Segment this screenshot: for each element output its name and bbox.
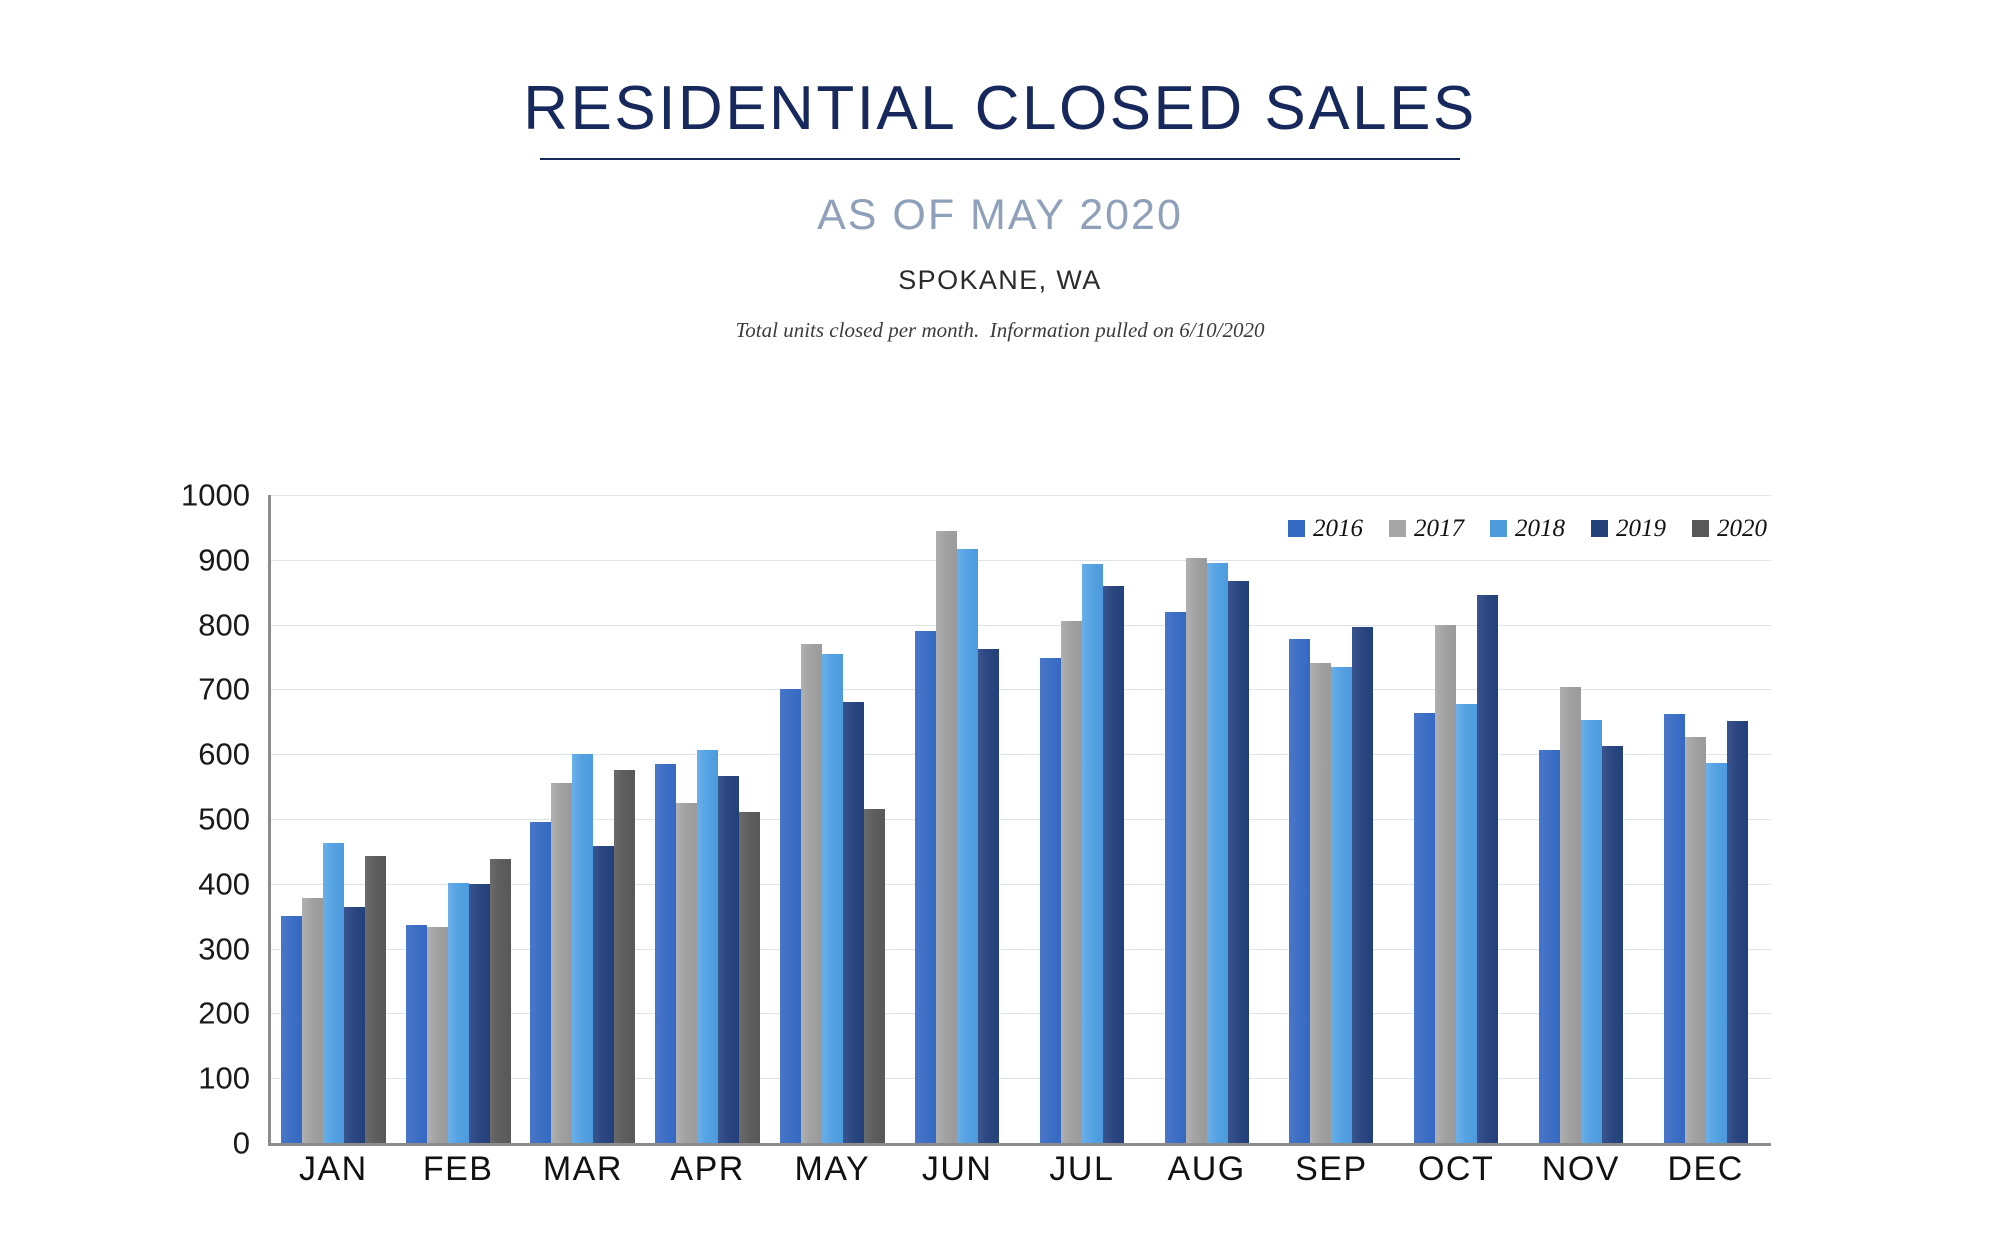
legend-label-2019: 2019: [1616, 516, 1666, 541]
bar-group-dec: [1643, 495, 1768, 1143]
bar-group-oct: [1394, 495, 1519, 1143]
bar-aug-2017[interactable]: [1186, 558, 1207, 1143]
legend-swatch-icon-2020: [1692, 520, 1709, 537]
x-axis-tick-label: SEP: [1269, 1152, 1394, 1186]
bar-nov-2018[interactable]: [1581, 720, 1602, 1143]
bar-group-apr: [645, 495, 770, 1143]
bar-feb-2019[interactable]: [469, 884, 490, 1143]
bar-oct-2019[interactable]: [1477, 595, 1498, 1143]
title-underline-divider: [540, 158, 1460, 160]
bar-mar-2020[interactable]: [614, 770, 635, 1143]
bar-apr-2018[interactable]: [697, 750, 718, 1143]
x-axis-tick-label: NOV: [1519, 1152, 1644, 1186]
bar-feb-2017[interactable]: [427, 927, 448, 1143]
legend-item-2018[interactable]: 2018: [1490, 516, 1565, 541]
chart-header: RESIDENTIAL CLOSED SALES AS OF MAY 2020 …: [0, 0, 2000, 341]
legend-item-2016[interactable]: 2016: [1288, 516, 1363, 541]
bar-jan-2017[interactable]: [302, 898, 323, 1143]
bar-sep-2017[interactable]: [1310, 663, 1331, 1143]
bar-dec-2018[interactable]: [1706, 763, 1727, 1143]
bar-sep-2019[interactable]: [1352, 627, 1373, 1143]
x-axis-tick-label: DEC: [1643, 1152, 1768, 1186]
bar-dec-2016[interactable]: [1664, 714, 1685, 1143]
bar-apr-2019[interactable]: [718, 776, 739, 1143]
legend-label-2020: 2020: [1717, 516, 1767, 541]
bar-jan-2019[interactable]: [344, 907, 365, 1143]
x-axis-tick-label: JUL: [1020, 1152, 1145, 1186]
y-axis-tick-label: 100: [0, 1063, 250, 1094]
bar-oct-2018[interactable]: [1456, 704, 1477, 1143]
bar-may-2018[interactable]: [822, 654, 843, 1143]
bar-group-mar: [521, 495, 646, 1143]
bar-nov-2019[interactable]: [1602, 746, 1623, 1143]
bar-aug-2019[interactable]: [1228, 581, 1249, 1143]
bar-oct-2016[interactable]: [1414, 713, 1435, 1143]
y-axis-tick-label: 1000: [0, 480, 250, 511]
bar-aug-2018[interactable]: [1207, 563, 1228, 1143]
bar-apr-2020[interactable]: [739, 812, 760, 1143]
legend-swatch-icon-2019: [1591, 520, 1608, 537]
legend-swatch-icon-2018: [1490, 520, 1507, 537]
bar-may-2019[interactable]: [843, 702, 864, 1143]
bar-oct-2017[interactable]: [1435, 625, 1456, 1143]
bar-may-2020[interactable]: [864, 809, 885, 1143]
chart-legend: 20162017201820192020: [1288, 516, 1767, 541]
bar-group-jun: [895, 495, 1020, 1143]
x-axis-tick-label: MAY: [770, 1152, 895, 1186]
x-axis-tick-label: FEB: [396, 1152, 521, 1186]
bar-jul-2016[interactable]: [1040, 658, 1061, 1143]
x-axis-tick-label: APR: [645, 1152, 770, 1186]
bars-layer: [271, 495, 1768, 1143]
legend-item-2019[interactable]: 2019: [1591, 516, 1666, 541]
bar-group-nov: [1519, 495, 1644, 1143]
bar-dec-2019[interactable]: [1727, 721, 1748, 1143]
x-axis-tick-label: MAR: [521, 1152, 646, 1186]
bar-jun-2018[interactable]: [957, 549, 978, 1143]
bar-jun-2019[interactable]: [978, 649, 999, 1143]
legend-item-2020[interactable]: 2020: [1692, 516, 1767, 541]
bar-aug-2016[interactable]: [1165, 612, 1186, 1143]
bar-jan-2018[interactable]: [323, 843, 344, 1143]
y-axis-tick-label: 0: [0, 1128, 250, 1159]
bar-group-jul: [1020, 495, 1145, 1143]
bar-nov-2017[interactable]: [1560, 687, 1581, 1143]
bar-jul-2018[interactable]: [1082, 564, 1103, 1143]
bar-group-aug: [1144, 495, 1269, 1143]
chart-subtitle: AS OF MAY 2020: [0, 194, 2000, 237]
page-title: RESIDENTIAL CLOSED SALES: [0, 78, 2000, 140]
bar-apr-2016[interactable]: [655, 764, 676, 1143]
bar-may-2016[interactable]: [780, 689, 801, 1143]
y-axis-tick-label: 300: [0, 933, 250, 964]
bar-group-may: [770, 495, 895, 1143]
chart-source-note: Total units closed per month. Informatio…: [0, 320, 2000, 341]
y-axis-tick-label: 800: [0, 609, 250, 640]
legend-label-2016: 2016: [1313, 516, 1363, 541]
y-axis-tick-label: 900: [0, 544, 250, 575]
bar-nov-2016[interactable]: [1539, 750, 1560, 1143]
bar-jan-2020[interactable]: [365, 856, 386, 1143]
bar-jun-2016[interactable]: [915, 631, 936, 1143]
bar-mar-2019[interactable]: [593, 846, 614, 1143]
y-axis-tick-label: 600: [0, 739, 250, 770]
bar-mar-2016[interactable]: [530, 822, 551, 1143]
bar-sep-2016[interactable]: [1289, 639, 1310, 1143]
y-axis-tick-label: 500: [0, 804, 250, 835]
bar-jul-2017[interactable]: [1061, 621, 1082, 1143]
y-axis-tick-label: 400: [0, 868, 250, 899]
bar-group-jan: [271, 495, 396, 1143]
legend-swatch-icon-2016: [1288, 520, 1305, 537]
bar-apr-2017[interactable]: [676, 803, 697, 1143]
bar-mar-2017[interactable]: [551, 783, 572, 1143]
legend-item-2017[interactable]: 2017: [1389, 516, 1464, 541]
bar-jan-2016[interactable]: [281, 916, 302, 1143]
bar-feb-2018[interactable]: [448, 883, 469, 1143]
x-axis-tick-label: JUN: [895, 1152, 1020, 1186]
bar-sep-2018[interactable]: [1331, 667, 1352, 1143]
bar-jun-2017[interactable]: [936, 531, 957, 1143]
legend-swatch-icon-2017: [1389, 520, 1406, 537]
bar-mar-2018[interactable]: [572, 754, 593, 1143]
bar-group-feb: [396, 495, 521, 1143]
bar-group-sep: [1269, 495, 1394, 1143]
x-axis: JANFEBMARAPRMAYJUNJULAUGSEPOCTNOVDEC: [271, 1152, 1768, 1186]
y-axis: 10009008007006005004003002001000: [0, 495, 250, 1143]
bar-dec-2017[interactable]: [1685, 737, 1706, 1143]
x-axis-tick-label: JAN: [271, 1152, 396, 1186]
bar-jul-2019[interactable]: [1103, 586, 1124, 1143]
x-axis-tick-label: AUG: [1144, 1152, 1269, 1186]
y-axis-tick-label: 200: [0, 998, 250, 1029]
bar-may-2017[interactable]: [801, 644, 822, 1143]
x-axis-tick-label: OCT: [1394, 1152, 1519, 1186]
y-axis-tick-label: 700: [0, 674, 250, 705]
bar-feb-2016[interactable]: [406, 925, 427, 1143]
bar-feb-2020[interactable]: [490, 859, 511, 1143]
legend-label-2018: 2018: [1515, 516, 1565, 541]
legend-label-2017: 2017: [1414, 516, 1464, 541]
chart-location-label: SPOKANE, WA: [0, 267, 2000, 294]
